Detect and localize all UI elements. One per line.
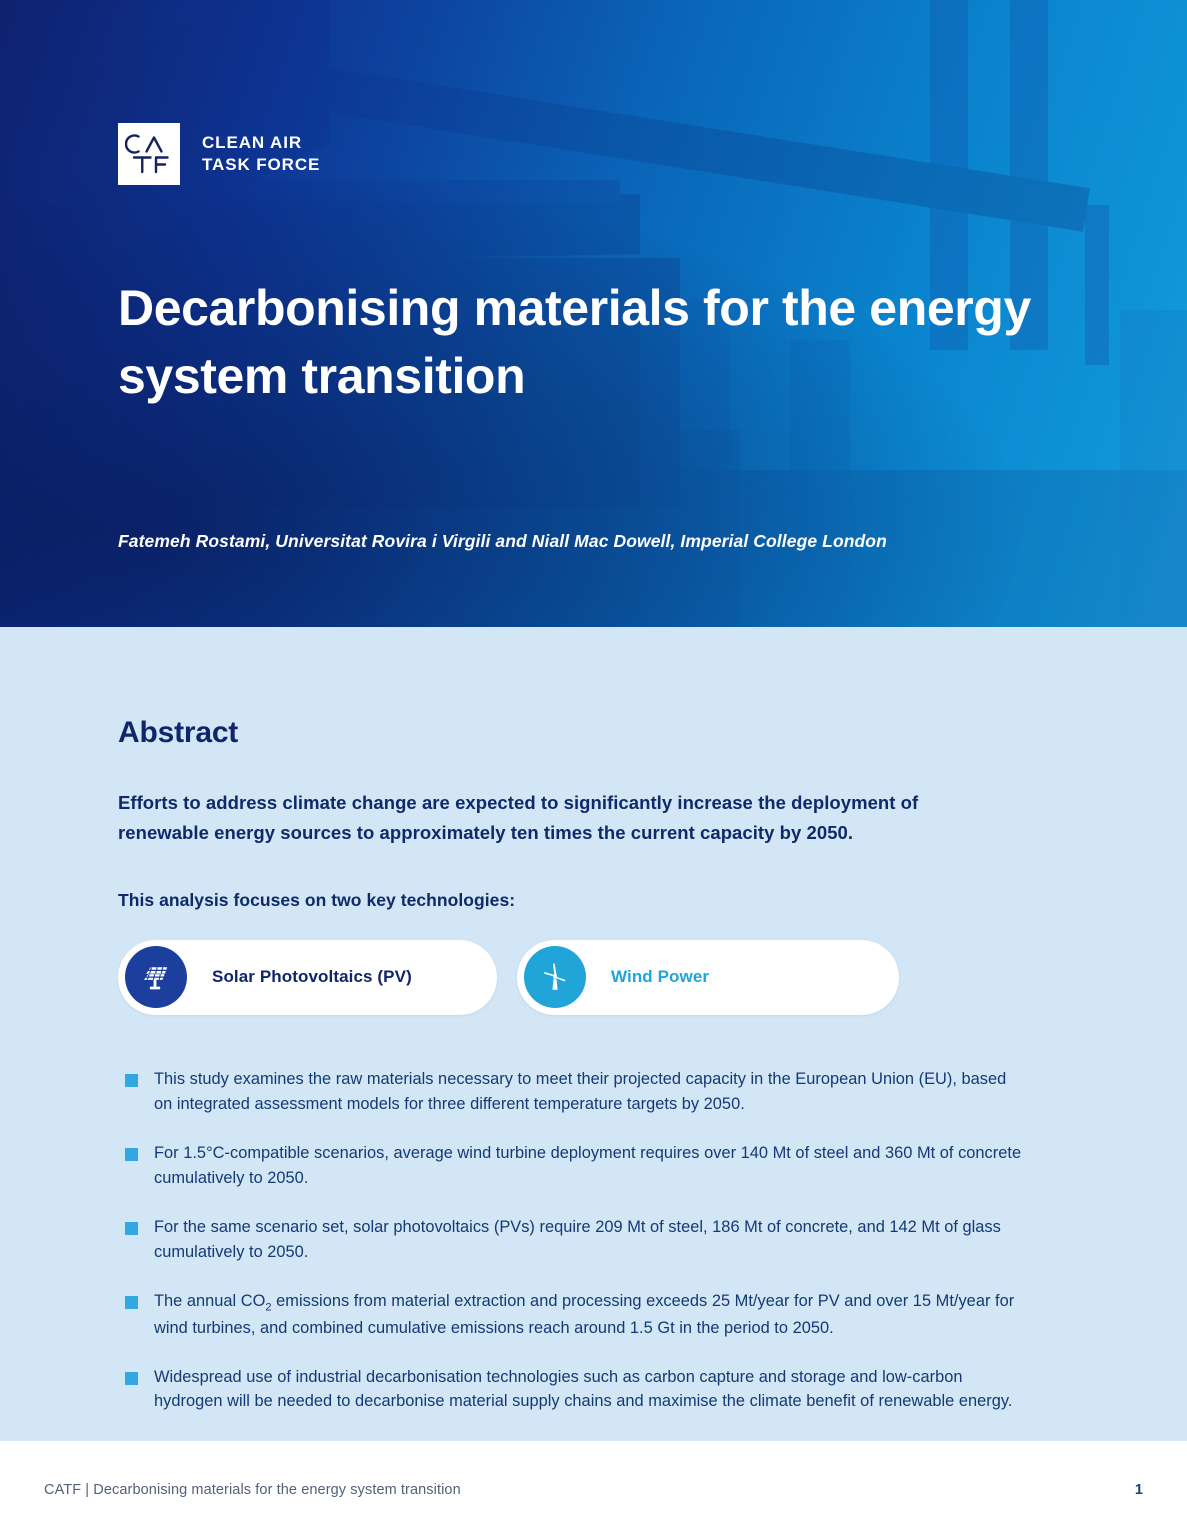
- list-item: This study examines the raw materials ne…: [125, 1067, 1023, 1117]
- page-footer: CATF | Decarbonising materials for the e…: [0, 1441, 1187, 1536]
- solar-panel-icon: [125, 946, 187, 1008]
- document-page: CLEAN AIR TASK FORCE Decarbonising mater…: [0, 0, 1187, 1536]
- technology-pill-group: Solar Photovoltaics (PV) Wind Power: [118, 940, 1023, 1015]
- catf-logo: CLEAN AIR TASK FORCE: [118, 123, 320, 185]
- catf-logo-icon: [118, 123, 180, 185]
- technology-pill-wind[interactable]: Wind Power: [517, 940, 899, 1015]
- co2-text-before: The annual CO: [154, 1292, 265, 1310]
- list-item: Widespread use of industrial decarbonisa…: [125, 1365, 1023, 1415]
- catf-logo-wordmark: CLEAN AIR TASK FORCE: [202, 132, 320, 177]
- list-item-text-co2: The annual CO2 emissions from material e…: [154, 1289, 1023, 1341]
- abstract-content: Abstract Efforts to address climate chan…: [118, 716, 1023, 1414]
- key-findings-list: This study examines the raw materials ne…: [118, 1067, 1023, 1414]
- technology-label-wind: Wind Power: [611, 967, 709, 987]
- list-item-text: Widespread use of industrial decarbonisa…: [154, 1365, 1023, 1415]
- technology-label-solar: Solar Photovoltaics (PV): [212, 967, 412, 987]
- list-item: For the same scenario set, solar photovo…: [125, 1215, 1023, 1265]
- bullet-square-icon: [125, 1148, 138, 1161]
- list-item-text: For 1.5°C-compatible scenarios, average …: [154, 1141, 1023, 1191]
- abstract-subheading: This analysis focuses on two key technol…: [118, 890, 1023, 911]
- footer-document-title: CATF | Decarbonising materials for the e…: [44, 1482, 461, 1498]
- co2-text-after: emissions from material extraction and p…: [154, 1292, 1014, 1337]
- logo-line-1: CLEAN AIR: [202, 132, 320, 154]
- abstract-paragraph: Efforts to address climate change are ex…: [118, 788, 998, 848]
- technology-pill-solar[interactable]: Solar Photovoltaics (PV): [118, 940, 497, 1015]
- bullet-square-icon: [125, 1222, 138, 1235]
- list-item-text: This study examines the raw materials ne…: [154, 1067, 1023, 1117]
- bullet-square-icon: [125, 1074, 138, 1087]
- logo-line-2: TASK FORCE: [202, 154, 320, 176]
- list-item-text: For the same scenario set, solar photovo…: [154, 1215, 1023, 1265]
- author-line: Fatemeh Rostami, Universitat Rovira i Vi…: [118, 531, 1118, 552]
- bullet-square-icon: [125, 1296, 138, 1309]
- wind-turbine-icon: [524, 946, 586, 1008]
- list-item: For 1.5°C-compatible scenarios, average …: [125, 1141, 1023, 1191]
- abstract-heading: Abstract: [118, 716, 1023, 750]
- list-item: The annual CO2 emissions from material e…: [125, 1289, 1023, 1341]
- page-title: Decarbonising materials for the energy s…: [118, 274, 1038, 410]
- hero-banner: CLEAN AIR TASK FORCE Decarbonising mater…: [0, 0, 1187, 627]
- bullet-square-icon: [125, 1372, 138, 1385]
- footer-page-number: 1: [1135, 1482, 1143, 1498]
